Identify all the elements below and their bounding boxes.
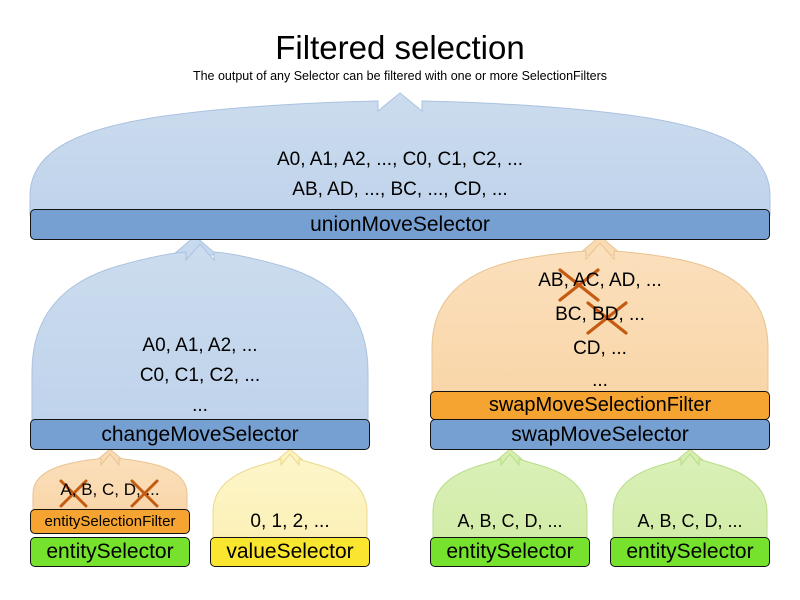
change-output-line-2: C0, C1, C2, ... [32,366,368,385]
entity-selector-filtered-bar[interactable]: entitySelector [30,537,190,567]
change-balloon [32,244,368,420]
union-move-selector-bar[interactable]: unionMoveSelector [30,209,770,240]
page-title: Filtered selection [0,28,800,68]
union-output-line-2: AB, AD, ..., BC, ..., CD, ... [0,180,800,199]
union-output-line-1: A0, A1, A2, ..., C0, C1, C2, ... [0,150,800,169]
swap-move-selector-bar[interactable]: swapMoveSelector [430,419,770,450]
entity-selector-swap-right-output-line: A, B, C, D, ... [610,512,770,530]
entity-selector-swap-right-bar[interactable]: entitySelector [610,537,770,567]
entity-selector-swap-left-output-line: A, B, C, D, ... [430,512,590,530]
change-output-line-3: ... [32,396,368,415]
value-selector-bar[interactable]: valueSelector [210,537,370,567]
page-subtitle: The output of any Selector can be filter… [0,68,800,84]
entity-selector-swap-left-bar[interactable]: entitySelector [430,537,590,567]
change-move-selector-bar[interactable]: changeMoveSelector [30,419,370,450]
entity-selection-filter-bar[interactable]: entitySelectionFilter [30,509,190,534]
swap-output-line-2: BC, BD, ... [432,305,768,324]
swap-move-selection-filter-bar[interactable]: swapMoveSelectionFilter [430,391,770,420]
swap-output-line-3: CD, ... [432,339,768,358]
change-output-line-1: A0, A1, A2, ... [32,336,368,355]
entity-filter-output-line: A, B, C, D, ... [20,481,200,498]
swap-output-line-4: ... [432,371,768,390]
swap-output-line-1: AB, AC, AD, ... [432,271,768,290]
value-selector-output-line: 0, 1, 2, ... [210,512,370,531]
diagram-canvas: Filtered selection The output of any Sel… [0,0,800,600]
